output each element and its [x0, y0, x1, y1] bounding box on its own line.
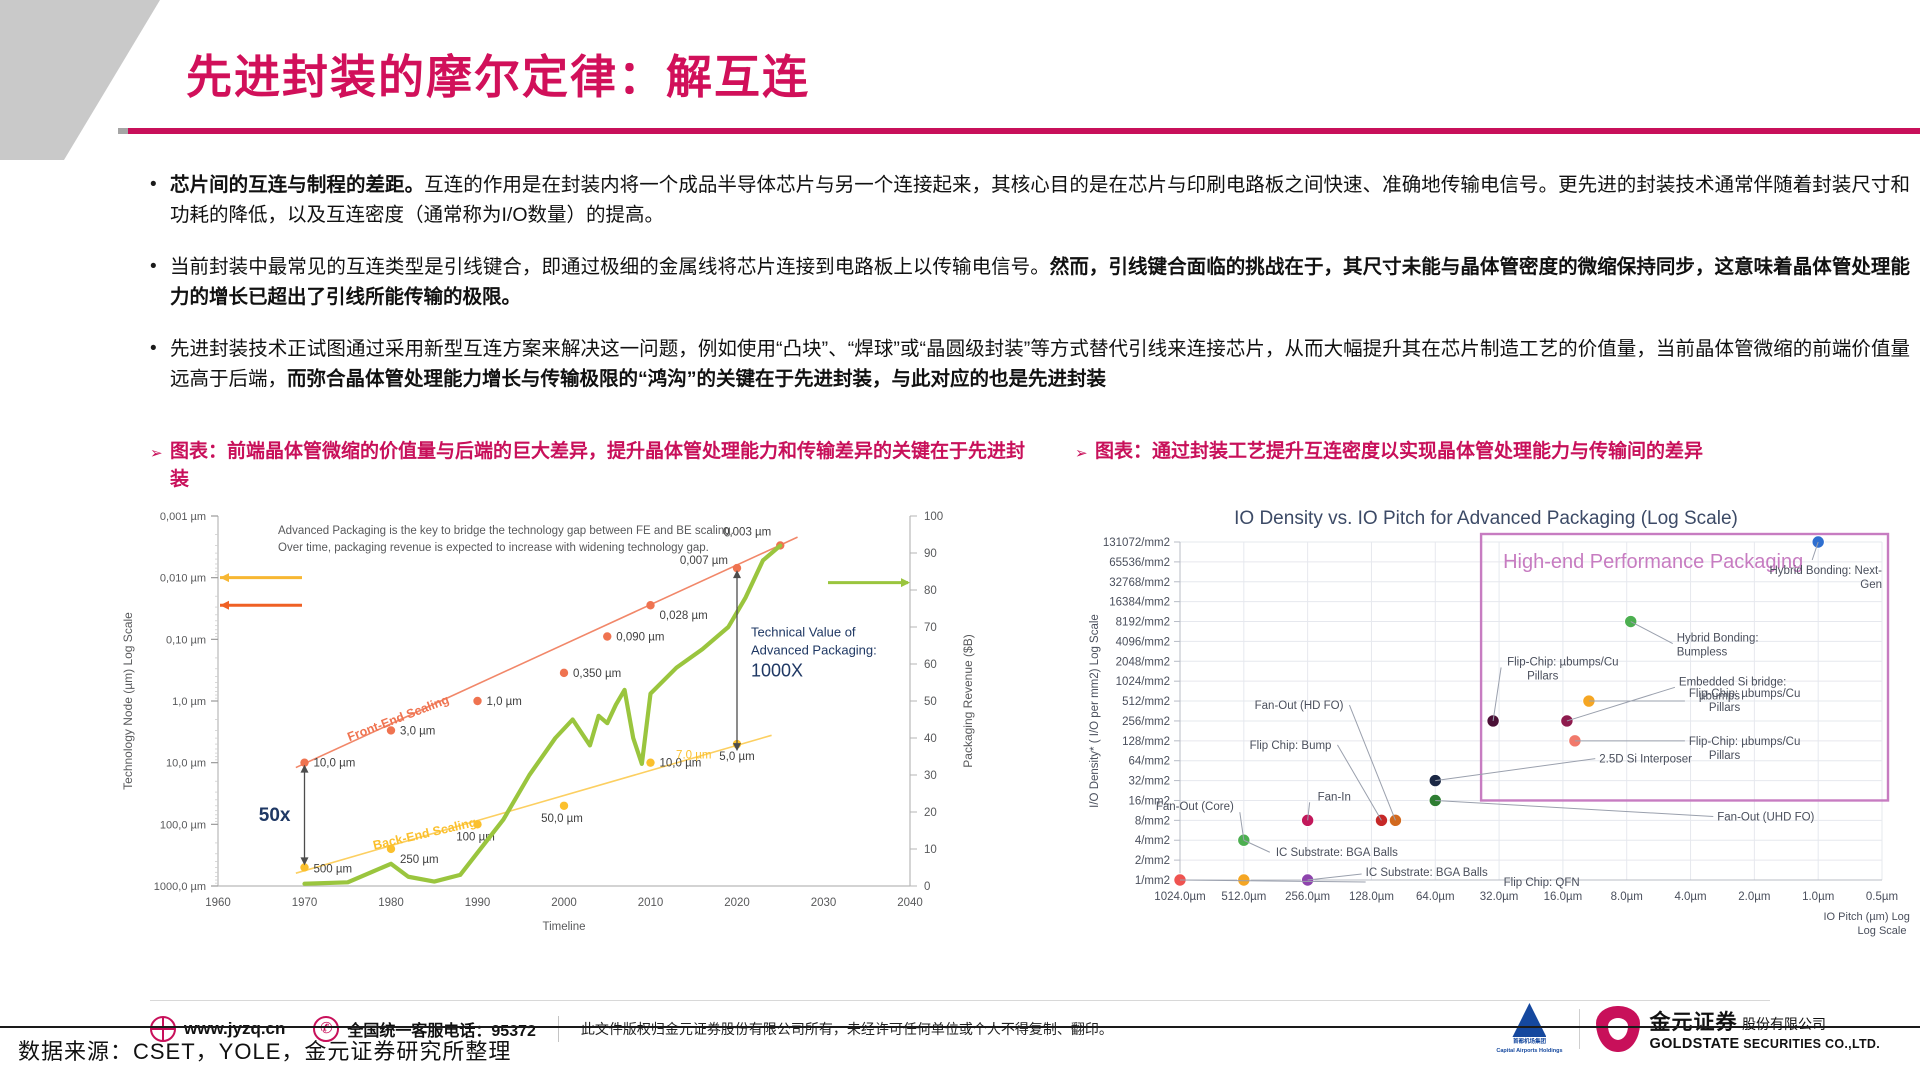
callout-embedded-bridge-l1: Embedded Si bridge:: [1679, 676, 1786, 688]
bullet-text: 当前封装中最常见的互连类型是引线键合，即通过极细的金属线将芯片连接到电路板上以传…: [170, 252, 1910, 312]
x-tick-label: 0.5µm: [1866, 891, 1898, 903]
callout-bga-b: IC Substrate: BGA Balls: [1366, 867, 1488, 879]
gap-1970-label: 50x: [259, 805, 291, 826]
callout-flipchip-qfn: Flip Chip: QFN: [1504, 877, 1580, 889]
bullet-segment: 而弥合晶体管处理能力增长与传输极限的“鸿沟”的关键在于先进封装，与此对应的也是先…: [287, 368, 1106, 390]
bullet-list: •芯片间的互连与制程的差距。互连的作用是在封装内将一个成品半导体芯片与另一个连接…: [150, 170, 1910, 416]
x-tick-label: 2040: [897, 897, 923, 909]
bullet-segment: 互连的作用是在封装内将一个成品半导体芯片与另一个连接起来，其核心目的是在芯片与印…: [170, 174, 1910, 226]
goldstate-brand-en-suffix: SECURITIES CO.,LTD.: [1743, 1037, 1880, 1051]
callout-flipchip-b-l1: Flip-Chip: µbumps/Cu: [1689, 688, 1800, 700]
technology-node-vs-packaging-revenue-chart: 0,001 µm0,010 µm0,10 µm1,0 µm10,0 µm100,…: [110, 488, 1000, 958]
y-tick-label: 256/mm2: [1122, 716, 1170, 728]
footer-copyright: 此文件版权归金元证券股份有限公司所有，未经许可任何单位或个人不得复制、翻印。: [581, 1019, 1113, 1039]
x-axis-label: IO Pitch (µm) Log Scale: [1824, 911, 1911, 923]
callout-25d-interposer: 2.5D Si Interposer: [1599, 754, 1692, 766]
front-end-data-point: [387, 726, 395, 734]
back-end-point-label: 5,0 µm: [719, 751, 754, 763]
y2-tick-label: 20: [924, 807, 937, 819]
chart-background: [110, 488, 1000, 958]
callout-flipchip-c-l1: Flip-Chip: µbumps/Cu: [1689, 736, 1800, 748]
front-end-point-label: 0,007 µm: [680, 555, 728, 567]
chart-title: IO Density vs. IO Pitch for Advanced Pac…: [1234, 508, 1738, 529]
x-tick-label: 1960: [205, 897, 231, 909]
y-tick-label: 65536/mm2: [1109, 557, 1170, 569]
goldstate-brand-cn-suffix: 股份有限公司: [1742, 1016, 1826, 1032]
gap-2020-label-line1: Technical Value of: [751, 625, 856, 640]
callout-hybrid-next-gen-l1: Hybrid Bonding: Next-: [1770, 565, 1883, 577]
bullet-segment: 当前封装中最常见的互连类型是引线键合，即通过极细的金属线将芯片连接到电路板上以传…: [170, 256, 1050, 278]
goldstate-logo: 金元证券 股份有限公司 GOLDSTATE SECURITIES CO.,LTD…: [1596, 1006, 1880, 1052]
callout-fan-in: Fan-In: [1318, 791, 1351, 803]
callout-flipchip-a-l1: Flip-Chip: µbumps/Cu: [1507, 656, 1618, 668]
left-chart-panel: 0,001 µm0,010 µm0,10 µm1,0 µm10,0 µm100,…: [110, 488, 1000, 958]
title-divider: [118, 128, 1920, 134]
right-chart-heading-text: 图表：通过封装工艺提升互连密度以实现晶体管处理能力与传输间的差异: [1095, 438, 1703, 466]
goldstate-brand-cn-row: 金元证券 股份有限公司: [1650, 1006, 1880, 1036]
footer-logos: 首都机场集团 Capital Airports Holdings 金元证券 股份…: [1496, 1000, 1880, 1058]
source-divider: [0, 1026, 1920, 1028]
front-end-data-point: [646, 601, 654, 609]
capital-airports-caption-cn: 首都机场集团: [1496, 1039, 1562, 1046]
y2-tick-label: 100: [924, 511, 943, 523]
x-tick-label: 32.0µm: [1480, 891, 1519, 903]
y2-tick-label: 60: [924, 659, 937, 671]
page-title: 先进封装的摩尔定律：解互连: [186, 38, 1486, 116]
goldstate-brand-en: GOLDSTATE: [1650, 1036, 1740, 1052]
y-tick-label: 0,10 µm: [166, 634, 206, 646]
callout-fanout-core: Fan-Out (Core): [1156, 801, 1234, 813]
callout-hybrid-next-gen-l2: Gen: [1860, 579, 1882, 591]
back-end-gap-label: 7.0 µm: [676, 749, 711, 761]
bullet-text: 芯片间的互连与制程的差距。互连的作用是在封装内将一个成品半导体芯片与另一个连接起…: [170, 170, 1910, 230]
y-tick-label: 512/mm2: [1122, 696, 1170, 708]
goldstate-mark-icon: [1596, 1006, 1640, 1052]
x-tick-label: 2.0µm: [1738, 891, 1770, 903]
back-end-data-point: [387, 845, 395, 853]
y-tick-label: 0,010 µm: [160, 573, 206, 585]
x-tick-label: 64.0µm: [1416, 891, 1455, 903]
x-tick-label: 2030: [811, 897, 837, 909]
y-tick-label: 1,0 µm: [172, 696, 206, 708]
title-container: 先进封装的摩尔定律：解互连: [186, 38, 1486, 116]
chevron-right-icon: ➢: [150, 438, 170, 468]
y-tick-label: 4/mm2: [1135, 835, 1170, 847]
bullet-item: •当前封装中最常见的互连类型是引线键合，即通过极细的金属线将芯片连接到电路板上以…: [150, 252, 1910, 312]
front-end-data-point: [473, 697, 481, 705]
back-end-point-label: 250 µm: [400, 854, 439, 866]
y-tick-label: 100,0 µm: [160, 819, 206, 831]
chart-annotation-line: Advanced Packaging is the key to bridge …: [278, 525, 734, 537]
back-end-data-point: [560, 802, 568, 810]
bullet-text: 先进封装技术正试图通过采用新型互连方案来解决这一问题，例如使用“凸块”、“焊球”…: [170, 334, 1910, 394]
back-end-point-label: 500 µm: [314, 863, 353, 875]
callout-flipchip-bump: Flip Chip: Bump: [1250, 740, 1332, 752]
x-tick-label: 2020: [724, 897, 750, 909]
front-end-point-label: 0,090 µm: [616, 632, 664, 644]
y-tick-label: 1024/mm2: [1116, 676, 1170, 688]
y-tick-label: 16384/mm2: [1109, 597, 1170, 609]
y-tick-label: 10,0 µm: [166, 758, 206, 770]
right-chart-panel: IO Density vs. IO Pitch for Advanced Pac…: [1062, 488, 1910, 958]
y-tick-label: 8/mm2: [1135, 815, 1170, 827]
logo-separator: [1579, 1009, 1580, 1049]
gap-2020-label-line3: 1000X: [751, 661, 803, 681]
y-axis-label: I/O Density* ( I/O per mm2) Log Scale: [1089, 614, 1101, 808]
x-axis-label: Timeline: [542, 921, 585, 933]
callout-flipchip-b-l2: Pillars: [1709, 702, 1741, 714]
callout-fanout-uhd: Fan-Out (UHD FO): [1717, 811, 1814, 823]
scatter-marker: [1238, 874, 1250, 886]
goldstate-brand-en-row: GOLDSTATE SECURITIES CO.,LTD.: [1650, 1036, 1880, 1052]
x-tick-label: 1970: [292, 897, 318, 909]
front-end-point-label: 0,003 µm: [723, 526, 771, 538]
y-tick-label: 32/mm2: [1128, 776, 1170, 788]
callout-flipchip-a-l2: Pillars: [1527, 670, 1559, 682]
callout-fanout-hd: Fan-Out (HD FO): [1255, 700, 1344, 712]
y-tick-label: 2048/mm2: [1116, 656, 1170, 668]
y-tick-label: 2/mm2: [1135, 855, 1170, 867]
y-tick-label: 131072/mm2: [1103, 537, 1170, 549]
callout-hybrid-bumpless-l2: Bumpless: [1677, 647, 1728, 659]
x-tick-label: 4.0µm: [1674, 891, 1706, 903]
right-chart-heading: ➢ 图表：通过封装工艺提升互连密度以实现晶体管处理能力与传输间的差异: [1075, 438, 1905, 468]
x-tick-label: 1980: [378, 897, 404, 909]
y-tick-label: 1/mm2: [1135, 875, 1170, 887]
bullet-segment: 芯片间的互连与制程的差距。: [170, 174, 424, 196]
front-end-point-label: 0,350 µm: [573, 668, 621, 680]
y2-axis-label: Packaging Revenue ($B): [961, 634, 975, 767]
y2-tick-label: 10: [924, 844, 937, 856]
y2-tick-label: 0: [924, 881, 930, 893]
scatter-point: [1238, 874, 1250, 886]
y2-tick-label: 30: [924, 770, 937, 782]
title-divider-cap: [118, 128, 128, 134]
bullet-item: •先进封装技术正试图通过采用新型互连方案来解决这一问题，例如使用“凸块”、“焊球…: [150, 334, 1910, 394]
back-end-data-point: [473, 820, 481, 828]
bullet-marker: •: [150, 170, 170, 200]
y-tick-label: 0,001 µm: [160, 511, 206, 523]
chevron-right-icon: ➢: [1075, 438, 1095, 468]
y2-tick-label: 40: [924, 733, 937, 745]
scatter-point: [1429, 774, 1441, 786]
x-tick-label: 2000: [551, 897, 577, 909]
bullet-marker: •: [150, 252, 170, 282]
scatter-marker: [1812, 536, 1824, 548]
y-tick-label: 8192/mm2: [1116, 617, 1170, 629]
x-tick-label: 16.0µm: [1544, 891, 1583, 903]
goldstate-brand-cn: 金元证券: [1650, 1011, 1738, 1034]
gap-2020-label-line2: Advanced Packaging:: [751, 643, 877, 658]
front-end-data-point: [603, 632, 611, 640]
x-tick-label: 128.0µm: [1349, 891, 1394, 903]
x-tick-label: 8.0µm: [1611, 891, 1643, 903]
capital-airports-logo: 首都机场集团 Capital Airports Holdings: [1496, 1003, 1562, 1055]
callout-hybrid-bumpless-l1: Hybrid Bonding:: [1677, 633, 1759, 645]
y-axis-label: Technology Node (µm) Log Scale: [121, 612, 135, 790]
y2-tick-label: 80: [924, 585, 937, 597]
y2-tick-label: 90: [924, 548, 937, 560]
y-tick-label: 4096/mm2: [1116, 636, 1170, 648]
x-axis-sublabel: Log Scale: [1858, 925, 1907, 937]
bullet-marker: •: [150, 334, 170, 364]
front-end-point-label: 0,028 µm: [660, 610, 708, 622]
back-end-point-label: 50,0 µm: [541, 813, 583, 825]
bullet-item: •芯片间的互连与制程的差距。互连的作用是在封装内将一个成品半导体芯片与另一个连接…: [150, 170, 1910, 230]
x-tick-label: 1.0µm: [1802, 891, 1834, 903]
front-end-point-label: 3,0 µm: [400, 725, 435, 737]
back-end-data-point: [646, 758, 654, 766]
chart-annotation-line: Over time, packaging revenue is expected…: [278, 542, 709, 554]
capital-airports-mark-icon: [1512, 1003, 1546, 1037]
scatter-point: [1812, 536, 1824, 548]
x-tick-label: 2010: [638, 897, 664, 909]
y-tick-label: 64/mm2: [1128, 756, 1170, 768]
callout-bga-a: IC Substrate: BGA Balls: [1276, 847, 1398, 859]
y-tick-label: 1000,0 µm: [154, 881, 206, 893]
source-label: 数据来源：CSET，YOLE，金元证券研究所整理: [18, 1034, 511, 1066]
y2-tick-label: 70: [924, 622, 937, 634]
y2-tick-label: 50: [924, 696, 937, 708]
capital-airports-caption-en: Capital Airports Holdings: [1496, 1048, 1562, 1055]
callout-flipchip-c-l2: Pillars: [1709, 750, 1741, 762]
io-density-vs-io-pitch-chart: IO Density vs. IO Pitch for Advanced Pac…: [1062, 488, 1910, 958]
left-chart-heading: ➢ 图表：前端晶体管微缩的价值量与后端的巨大差异，提升晶体管处理能力和传输差异的…: [150, 438, 1030, 494]
front-end-point-label: 10,0 µm: [314, 758, 356, 770]
front-end-data-point: [560, 669, 568, 677]
front-end-point-label: 1,0 µm: [487, 696, 522, 708]
high-end-region-label: High-end Performance Packaging: [1503, 551, 1803, 573]
x-tick-label: 256.0µm: [1285, 891, 1330, 903]
footer-separator: [558, 1016, 559, 1042]
y-tick-label: 32768/mm2: [1109, 577, 1170, 589]
scatter-marker: [1429, 774, 1441, 786]
y-tick-label: 128/mm2: [1122, 736, 1170, 748]
x-tick-label: 1024.0µm: [1154, 891, 1205, 903]
x-tick-label: 512.0µm: [1221, 891, 1266, 903]
left-chart-heading-text: 图表：前端晶体管微缩的价值量与后端的巨大差异，提升晶体管处理能力和传输差异的关键…: [170, 438, 1030, 494]
x-tick-label: 1990: [465, 897, 491, 909]
